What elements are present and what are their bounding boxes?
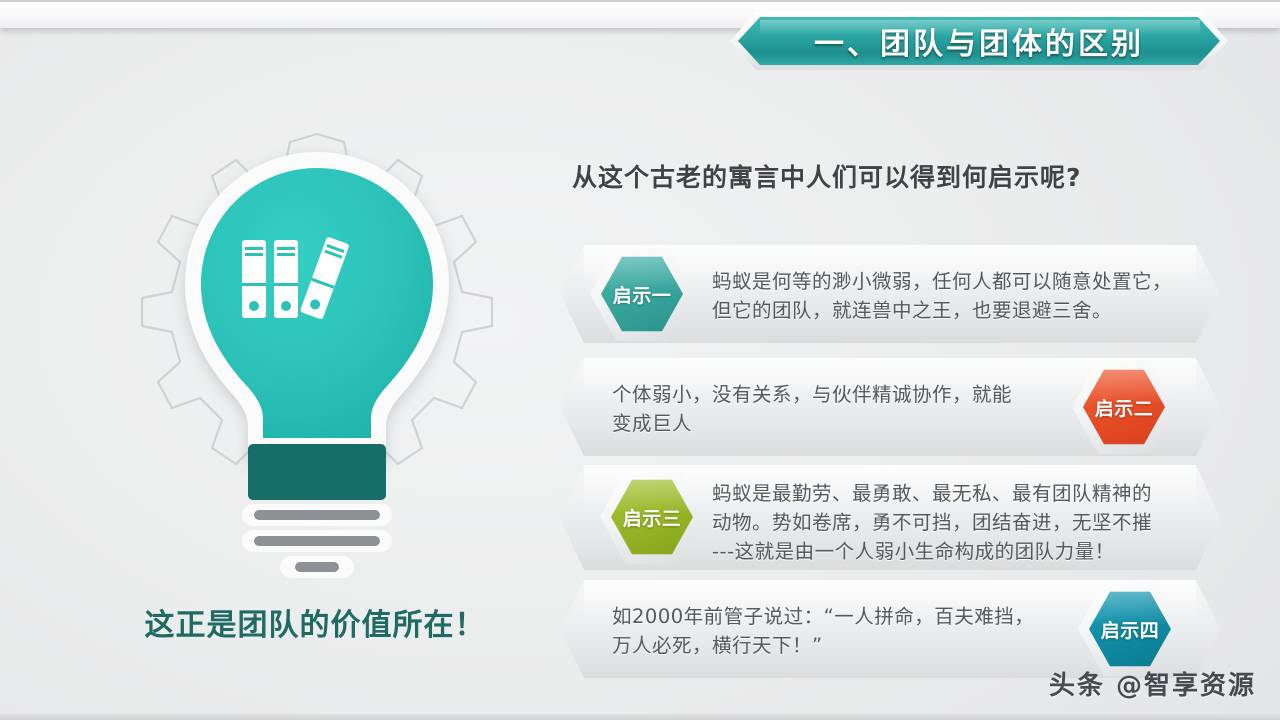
bulb-base [248, 444, 386, 500]
insight-row[interactable]: 蚂蚁是何等的渺小微弱，任何人都可以随意处置它， 但它的团队，就连兽中之王，也要退… [560, 245, 1220, 343]
watermark: 头条 @智享资源 [1049, 665, 1256, 702]
badge-label: 启示三 [623, 504, 682, 531]
left-caption: 这正是团队的价值所在！ [100, 600, 530, 644]
title-banner-fill: 一、团队与团体的区别 [738, 17, 1220, 65]
insight-row[interactable]: 蚂蚁是最勤劳、最勇敢、最无私、最有团队精神的 动物。势如卷席，勇不可挡，团结奋进… [560, 465, 1220, 570]
slide-bottom-bar [0, 714, 1280, 720]
insight-badge[interactable]: 启示三 [600, 468, 704, 566]
insights-panel: 从这个古老的寓言中人们可以得到何启示呢? 蚂蚁是何等的渺小微弱，任何人都可以随意… [560, 140, 1250, 685]
insight-text: 个体弱小，没有关系，与伙伴精诚协作，就能 变成巨人 [612, 380, 1012, 438]
bulb-threads [242, 504, 392, 578]
insight-text: 如2000年前管子说过：“一人拼命，百夫难挡， 万人必死，横行天下！” [612, 602, 1034, 660]
insight-row[interactable]: 个体弱小，没有关系，与伙伴精诚协作，就能 变成巨人 启示二 [560, 358, 1220, 456]
insight-badge[interactable]: 启示二 [1072, 358, 1176, 456]
slide-title-banner: 一、团队与团体的区别 [730, 12, 1228, 70]
page-title: 一、团队与团体的区别 [814, 19, 1144, 63]
lightbulb-illustration [92, 120, 542, 590]
insight-text: 蚂蚁是最勤劳、最勇敢、最无私、最有团队精神的 动物。势如卷席，勇不可挡，团结奋进… [712, 479, 1152, 566]
question-heading: 从这个古老的寓言中人们可以得到何启示呢? [572, 158, 1082, 194]
slide-canvas: 一、团队与团体的区别 [0, 0, 1280, 720]
insight-badge[interactable]: 启示四 [1078, 580, 1182, 678]
insight-text: 蚂蚁是何等的渺小微弱，任何人都可以随意处置它， 但它的团队，就连兽中之王，也要退… [712, 267, 1172, 325]
badge-label: 启示二 [1095, 394, 1154, 421]
insight-badge[interactable]: 启示一 [590, 245, 694, 343]
badge-label: 启示一 [613, 281, 672, 308]
badge-label: 启示四 [1101, 616, 1160, 643]
insight-row[interactable]: 如2000年前管子说过：“一人拼命，百夫难挡， 万人必死，横行天下！” 启示四 [560, 580, 1220, 678]
